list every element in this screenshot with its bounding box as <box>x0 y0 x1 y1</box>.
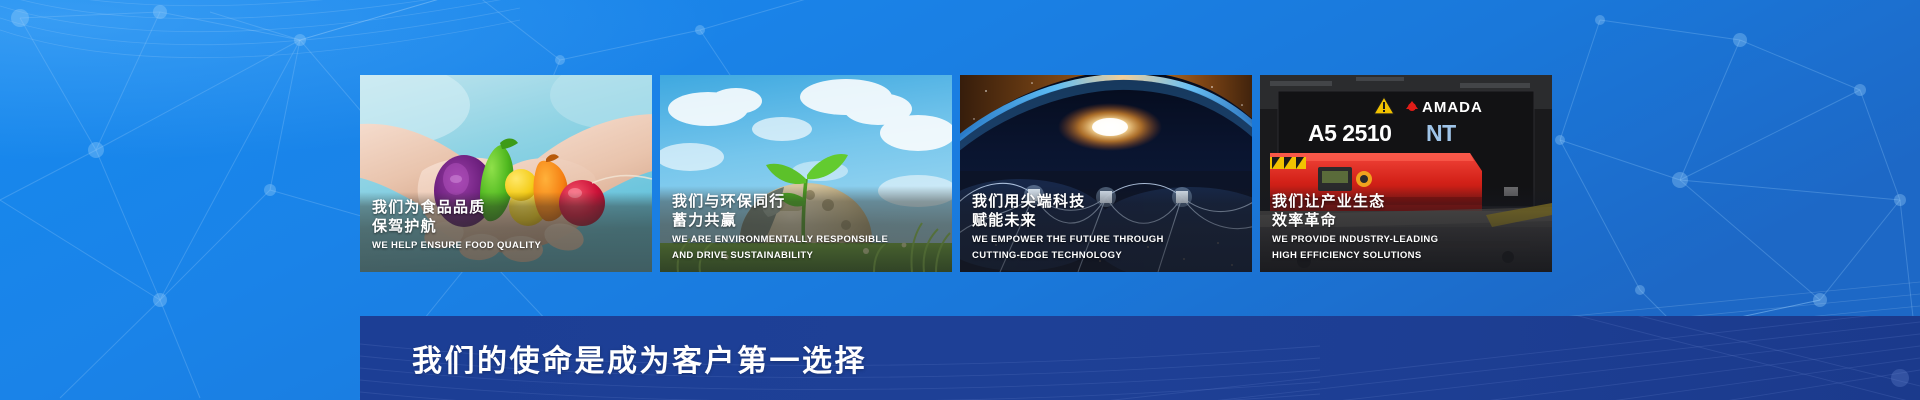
svg-text:AMADA: AMADA <box>1422 99 1483 116</box>
svg-text:A5 2510: A5 2510 <box>1308 120 1391 146</box>
card-caption-environment: 我们与环保同行 蓄力共赢 WE ARE ENVIRONMENTALLY RESP… <box>660 186 952 272</box>
card-en-line2: HIGH EFFICIENCY SOLUTIONS <box>1272 249 1542 262</box>
card-en-line1: WE ARE ENVIRONMENTALLY RESPONSIBLE <box>672 233 942 246</box>
card-en-line1: WE HELP ENSURE FOOD QUALITY <box>372 239 642 252</box>
feature-card-list: 我们为食品品质 保驾护航 WE HELP ENSURE FOOD QUALITY <box>360 75 1528 272</box>
mission-title: 我们的使命是成为客户第一选择 <box>412 336 867 380</box>
hero-banner: 我们为食品品质 保驾护航 WE HELP ENSURE FOOD QUALITY <box>0 0 1920 400</box>
card-en-line1: WE PROVIDE INDUSTRY-LEADING <box>1272 233 1542 246</box>
svg-text:NT: NT <box>1426 120 1456 146</box>
card-en-line2: CUTTING-EDGE TECHNOLOGY <box>972 249 1242 262</box>
card-cn-line2: 蓄力共赢 <box>672 211 942 230</box>
mission-banner: 我们的使命是成为客户第一选择 <box>360 316 1920 400</box>
feature-card-environment[interactable]: 我们与环保同行 蓄力共赢 WE ARE ENVIRONMENTALLY RESP… <box>660 75 952 272</box>
card-cn-line1: 我们让产业生态 <box>1272 192 1542 211</box>
card-caption-food-quality: 我们为食品品质 保驾护航 WE HELP ENSURE FOOD QUALITY <box>360 192 652 272</box>
card-en-line2: AND DRIVE SUSTAINABILITY <box>672 249 942 262</box>
card-cn-line1: 我们与环保同行 <box>672 192 942 211</box>
card-cn-line2: 保驾护航 <box>372 217 642 236</box>
card-cn-line2: 赋能未来 <box>972 211 1242 230</box>
card-cn-line1: 我们为食品品质 <box>372 198 642 217</box>
feature-card-industry[interactable]: AMADA A5 2510 NT <box>1260 75 1552 272</box>
feature-card-technology[interactable]: 我们用尖端科技 赋能未来 WE EMPOWER THE FUTURE THROU… <box>960 75 1252 272</box>
card-cn-line1: 我们用尖端科技 <box>972 192 1242 211</box>
feature-card-food-quality[interactable]: 我们为食品品质 保驾护航 WE HELP ENSURE FOOD QUALITY <box>360 75 652 272</box>
card-caption-technology: 我们用尖端科技 赋能未来 WE EMPOWER THE FUTURE THROU… <box>960 186 1252 272</box>
card-caption-industry: 我们让产业生态 效率革命 WE PROVIDE INDUSTRY-LEADING… <box>1260 186 1552 272</box>
card-cn-line2: 效率革命 <box>1272 211 1542 230</box>
card-en-line1: WE EMPOWER THE FUTURE THROUGH <box>972 233 1242 246</box>
